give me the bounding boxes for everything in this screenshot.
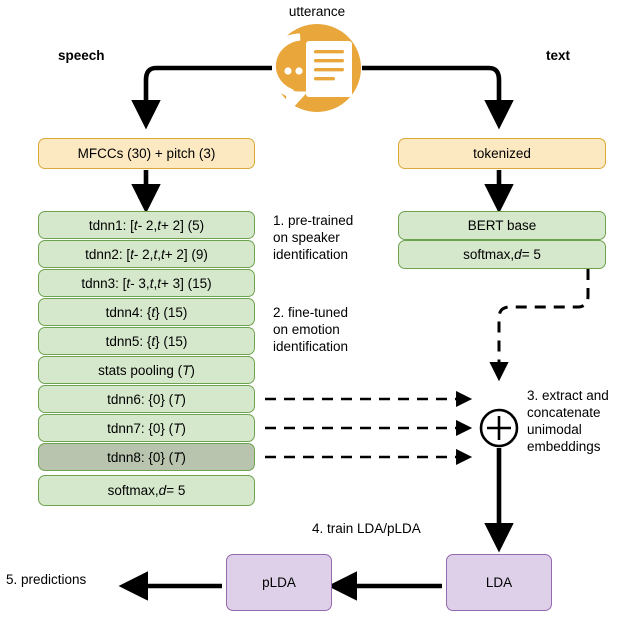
tdnn2-box: tdnn2: [t - 2, t, t + 2] (9)	[38, 240, 255, 268]
tokenized-box: tokenized	[398, 138, 606, 169]
tdnn1-box: tdnn1: [t - 2, t + 2] (5)	[38, 211, 255, 239]
annotation-step-3: 3. extract and concatenate unimodal embe…	[527, 388, 634, 456]
tdnn8-box: tdnn8: {0} (T)	[38, 443, 255, 471]
annotation-step-5: 5. predictions	[6, 572, 86, 589]
text-softmax-box: softmax, d = 5	[398, 240, 606, 269]
speech-softmax-box: softmax, d = 5	[38, 475, 255, 506]
tdnn3-box: tdnn3: [t - 3, t, t + 3] (15)	[38, 269, 255, 297]
bert-base-box: BERT base	[398, 211, 606, 240]
lda-box: LDA	[446, 554, 552, 611]
speech-branch-label: speech	[58, 48, 105, 65]
plda-box: pLDA	[226, 554, 332, 611]
speech-bubble-document-icon	[269, 24, 361, 112]
annotation-step-1: 1. pre-trained on speaker identification	[273, 213, 393, 264]
stats-pooling-box: stats pooling (T)	[38, 356, 255, 384]
mfcc-pitch-box: MFCCs (30) + pitch (3)	[38, 138, 255, 169]
tdnn6-box: tdnn6: {0} (T)	[38, 385, 255, 413]
annotation-step-4: 4. train LDA/pLDA	[312, 521, 421, 538]
concatenation-operator-icon	[481, 410, 517, 446]
text-branch-label: text	[546, 48, 570, 65]
tdnn4-box: tdnn4: {t} (15)	[38, 298, 255, 326]
utterance-label: utterance	[271, 4, 363, 21]
tdnn5-box: tdnn5: {t} (15)	[38, 327, 255, 355]
tdnn7-box: tdnn7: {0} (T)	[38, 414, 255, 442]
diagram-canvas: utterance speech text MFCCs (30) + pitch…	[0, 0, 634, 622]
annotation-step-2: 2. fine-tuned on emotion identification	[273, 305, 393, 356]
